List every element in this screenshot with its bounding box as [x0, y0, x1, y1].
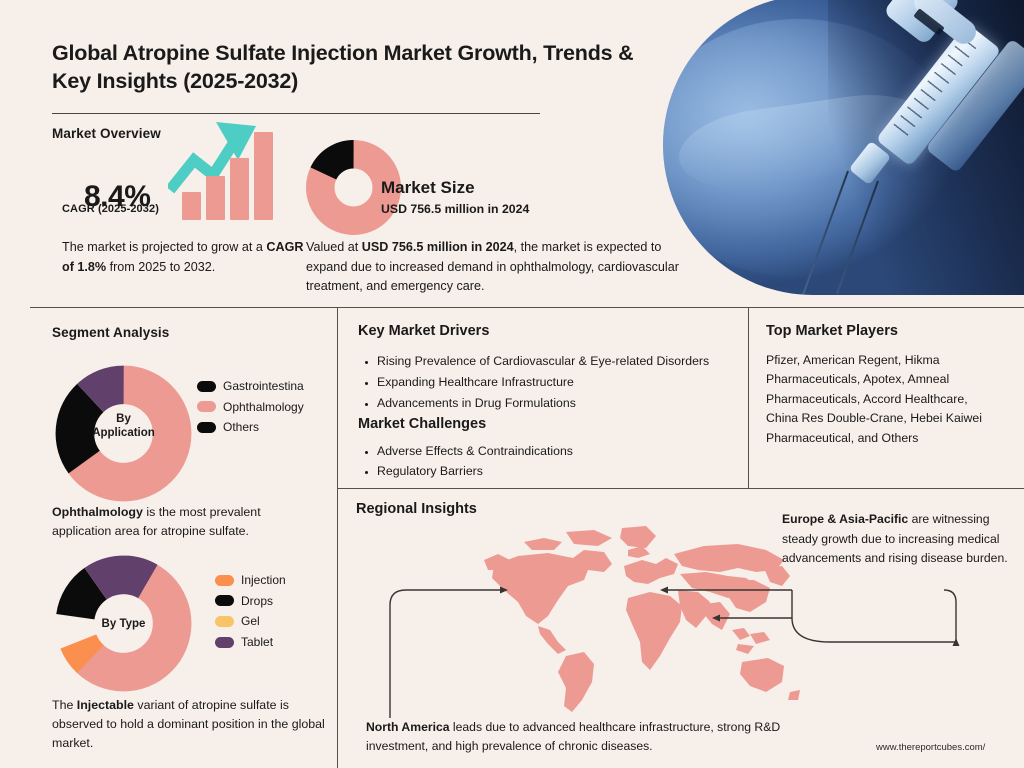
legend-item-drops: Drops	[215, 592, 286, 611]
arrow-heads	[500, 587, 960, 647]
legend-item-injection: Injection	[215, 571, 286, 590]
legend-label-tablet: Tablet	[241, 633, 273, 652]
infographic-page: Global Atropine Sulfate Injection Market…	[0, 0, 1024, 768]
legend-swatch-injection	[215, 575, 234, 586]
arrow-path-eu-connector	[944, 590, 956, 642]
website-url[interactable]: www.thereportcubes.com/	[876, 742, 985, 753]
arrow-path-north-america	[390, 590, 504, 718]
by-application-center-label: ByApplication	[52, 412, 195, 441]
key-market-drivers-heading: Key Market Drivers	[358, 323, 489, 339]
by-type-center-label: By Type	[52, 617, 195, 631]
type-note: The Injectable variant of atropine sulfa…	[52, 696, 327, 754]
market-challenges-heading: Market Challenges	[358, 416, 486, 432]
by-type-legend: Injection Drops Gel Tablet	[215, 571, 286, 653]
legend-item-tablet: Tablet	[215, 633, 286, 652]
legend-label-others: Others	[223, 418, 259, 437]
legend-item-gastrointestina: Gastrointestina	[197, 377, 304, 396]
legend-item-others: Others	[197, 418, 304, 437]
legend-swatch-drops	[215, 595, 234, 606]
north-america-callout: North America leads due to advanced heal…	[366, 718, 816, 756]
divider-main	[30, 307, 1024, 308]
type-note-pre: The	[52, 698, 77, 712]
europe-callout-bold: Europe & Asia-Pacific	[782, 512, 908, 526]
syringe-photo	[663, 0, 1024, 295]
arrow-path-eu-loop	[792, 590, 956, 642]
ms-text-pre: Valued at	[306, 240, 362, 254]
legend-item-ophthalmology: Ophthalmology	[197, 398, 304, 417]
overview-desc-pre: The market is projected to grow at a	[62, 240, 266, 254]
cagr-caption: CAGR (2025-2032)	[62, 203, 159, 215]
growth-bar-chart-icon	[180, 130, 270, 220]
page-title: Global Atropine Sulfate Injection Market…	[52, 40, 652, 95]
market-size-description: Valued at USD 756.5 million in 2024, the…	[306, 238, 681, 297]
legend-swatch-ophthalmology	[197, 401, 216, 412]
divider-mid	[337, 488, 1024, 489]
challenge-item: Adverse Effects & Contraindications	[377, 442, 762, 462]
legend-swatch-others	[197, 422, 216, 433]
syringe-illustration	[663, 0, 1024, 295]
market-challenges-list: Adverse Effects & Contraindications Regu…	[360, 442, 762, 482]
key-market-drivers-list: Rising Prevalence of Cardiovascular & Ey…	[360, 352, 762, 415]
legend-swatch-gastrointestina	[197, 381, 216, 392]
application-note-bold: Ophthalmology	[52, 505, 143, 519]
na-callout-bold: North America	[366, 720, 450, 734]
bar-1	[182, 192, 201, 220]
segment-analysis-heading: Segment Analysis	[52, 325, 169, 340]
bar-4	[254, 132, 273, 220]
type-note-bold: Injectable	[77, 698, 134, 712]
legend-label-ophthalmology: Ophthalmology	[223, 398, 304, 417]
syringe-needle-secondary	[836, 181, 879, 294]
legend-label-injection: Injection	[241, 571, 286, 590]
title-divider	[52, 113, 540, 114]
legend-label-drops: Drops	[241, 592, 273, 611]
europe-asia-callout: Europe & Asia-Pacific are witnessing ste…	[782, 510, 1020, 569]
market-overview-heading: Market Overview	[52, 126, 161, 141]
divider-vertical-left	[337, 307, 338, 489]
ms-text-bold: USD 756.5 million in 2024	[362, 240, 514, 254]
challenge-item: Regulatory Barriers	[377, 462, 762, 482]
driver-item: Rising Prevalence of Cardiovascular & Ey…	[377, 352, 762, 372]
market-size-title: Market Size	[381, 178, 475, 198]
legend-label-gel: Gel	[241, 612, 260, 631]
legend-swatch-gel	[215, 616, 234, 627]
bar-3	[230, 158, 249, 220]
legend-label-gastrointestina: Gastrointestina	[223, 377, 304, 396]
bar-2	[206, 176, 225, 220]
driver-item: Advancements in Drug Formulations	[377, 394, 762, 414]
legend-item-gel: Gel	[215, 612, 286, 631]
driver-item: Expanding Healthcare Infrastructure	[377, 373, 762, 393]
top-market-players-text: Pfizer, American Regent, Hikma Pharmaceu…	[766, 351, 998, 448]
market-size-subtitle: USD 756.5 million in 2024	[381, 202, 529, 216]
application-note: Ophthalmology is the most prevalent appl…	[52, 503, 322, 541]
legend-swatch-tablet	[215, 637, 234, 648]
overview-description: The market is projected to grow at a CAG…	[62, 238, 312, 277]
top-market-players-heading: Top Market Players	[766, 323, 898, 339]
by-application-legend: Gastrointestina Ophthalmology Others	[197, 377, 304, 439]
overview-desc-post: from 2025 to 2032.	[106, 260, 215, 274]
